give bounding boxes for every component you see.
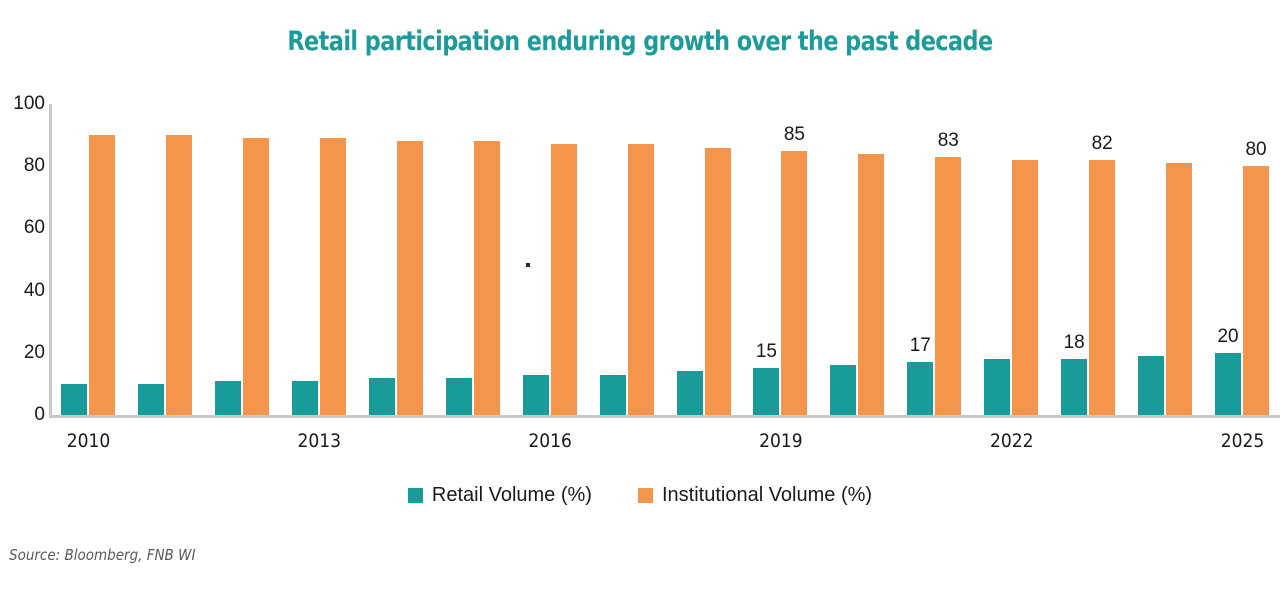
bar-retail-2021[interactable]: 17 (907, 362, 933, 415)
x-axis-label-2025: 2025 (1221, 430, 1265, 452)
bar-group-2016 (511, 104, 588, 415)
bar-retail-2023[interactable]: 18 (1061, 359, 1087, 415)
bar-value-label: 85 (784, 125, 805, 144)
y-axis-tick-0: 0 (1, 405, 45, 424)
bar-value-label: 20 (1217, 327, 1238, 346)
bar-institutional-2014[interactable] (397, 141, 423, 415)
y-axis-tick-100: 100 (1, 94, 45, 113)
bar-group-2014 (357, 104, 434, 415)
bar-group-2022 (972, 104, 1049, 415)
y-axis-tick-60: 60 (1, 218, 45, 237)
bar-institutional-2022[interactable] (1012, 160, 1038, 415)
bar-group-2013 (280, 104, 357, 415)
legend-label: Institutional Volume (%) (662, 484, 872, 507)
bar-group-2017 (588, 104, 665, 415)
bar-group-2025: 2080 (1203, 104, 1280, 415)
bar-institutional-2012[interactable] (243, 138, 269, 415)
x-axis-labels: 201020132016201920222025 (49, 430, 1280, 460)
bar-retail-2012[interactable] (215, 381, 241, 415)
bar-group-2023: 1882 (1049, 104, 1126, 415)
bar-institutional-2016[interactable] (551, 144, 577, 415)
bar-group-2012 (203, 104, 280, 415)
bar-retail-2011[interactable] (138, 384, 164, 415)
bar-group-2024 (1126, 104, 1203, 415)
bar-value-label: 82 (1092, 134, 1113, 153)
bar-institutional-2024[interactable] (1166, 163, 1192, 415)
bar-institutional-2017[interactable] (628, 144, 654, 415)
bar-institutional-2025[interactable]: 80 (1243, 166, 1269, 415)
bar-institutional-2013[interactable] (320, 138, 346, 415)
bar-value-label: 18 (1064, 333, 1085, 352)
legend-label: Retail Volume (%) (432, 484, 592, 507)
bar-retail-2013[interactable] (292, 381, 318, 415)
bar-retail-2015[interactable] (446, 378, 472, 415)
bar-value-label: 15 (756, 342, 777, 361)
bar-institutional-2011[interactable] (166, 135, 192, 415)
bar-group-2020 (818, 104, 895, 415)
x-axis-label-2022: 2022 (990, 430, 1034, 452)
bar-retail-2014[interactable] (369, 378, 395, 415)
bar-group-2018 (665, 104, 742, 415)
bar-group-2011 (126, 104, 203, 415)
x-axis-label-2019: 2019 (759, 430, 803, 452)
bar-retail-2010[interactable] (61, 384, 87, 415)
y-axis-tick-20: 20 (1, 343, 45, 362)
bar-retail-2020[interactable] (830, 365, 856, 415)
source-note: Source: Bloomberg, FNB WI (9, 546, 195, 564)
bar-institutional-2010[interactable] (89, 135, 115, 415)
bar-retail-2019[interactable]: 15 (753, 368, 779, 415)
x-axis-label-2010: 2010 (67, 430, 111, 452)
bar-group-2010 (49, 104, 126, 415)
chart-legend: Retail Volume (%)Institutional Volume (%… (0, 484, 1280, 507)
legend-item-institutional[interactable]: Institutional Volume (%) (638, 484, 872, 507)
bar-retail-2016[interactable] (523, 375, 549, 415)
x-axis-label-2016: 2016 (528, 430, 572, 452)
bar-retail-2018[interactable] (677, 371, 703, 415)
stray-dot-artifact (526, 263, 530, 267)
bar-retail-2024[interactable] (1138, 356, 1164, 415)
y-axis-tick-80: 80 (1, 156, 45, 175)
bar-institutional-2023[interactable]: 82 (1089, 160, 1115, 415)
legend-square-swatch (638, 488, 653, 503)
bar-retail-2017[interactable] (600, 375, 626, 415)
bar-institutional-2021[interactable]: 83 (935, 157, 961, 415)
bar-value-label: 83 (938, 131, 959, 150)
y-axis-tick-40: 40 (1, 281, 45, 300)
bar-retail-2022[interactable] (984, 359, 1010, 415)
legend-square-swatch (408, 488, 423, 503)
bar-value-label: 80 (1245, 140, 1266, 159)
bar-institutional-2018[interactable] (705, 148, 731, 415)
bar-group-2021: 1783 (895, 104, 972, 415)
bar-institutional-2015[interactable] (474, 141, 500, 415)
bar-institutional-2020[interactable] (858, 154, 884, 415)
bar-group-2019: 1585 (741, 104, 818, 415)
legend-item-retail[interactable]: Retail Volume (%) (408, 484, 592, 507)
bar-value-label: 17 (910, 336, 931, 355)
x-axis-label-2013: 2013 (298, 430, 342, 452)
bar-institutional-2019[interactable]: 85 (781, 151, 807, 415)
bar-group-2015 (434, 104, 511, 415)
bar-retail-2025[interactable]: 20 (1215, 353, 1241, 415)
